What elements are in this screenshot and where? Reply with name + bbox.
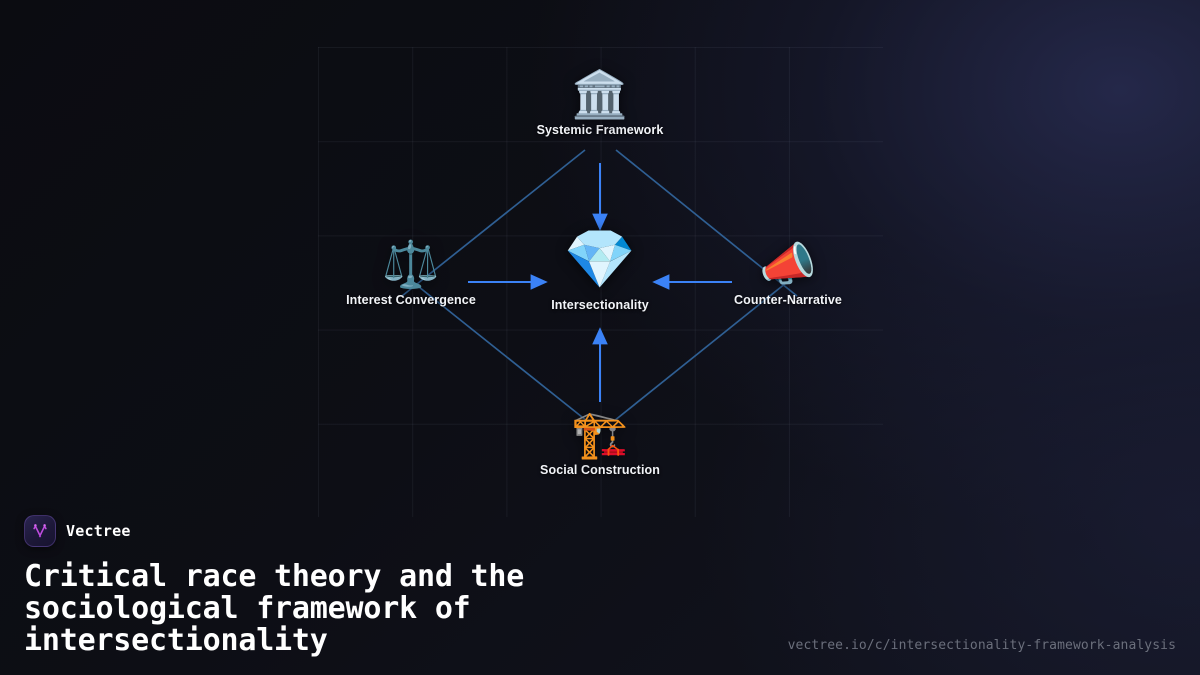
- node-systemic-framework[interactable]: 🏛️ Systemic Framework: [510, 68, 690, 137]
- balance-scale-icon: ⚖️: [382, 238, 439, 290]
- vectree-logo-icon: [24, 515, 56, 547]
- source-url: vectree.io/c/intersectionality-framework…: [788, 638, 1176, 653]
- node-label-intersectionality: Intersectionality: [551, 298, 649, 312]
- node-social-construction[interactable]: 🏗️ Social Construction: [510, 408, 690, 477]
- slide-canvas: 🏛️ Systemic Framework ⚖️ Interest Conver…: [0, 0, 1200, 675]
- node-label-systemic-framework: Systemic Framework: [537, 123, 664, 137]
- page-title: Critical race theory and the sociologica…: [24, 561, 724, 657]
- classical-building-icon: 🏛️: [571, 68, 628, 120]
- node-label-interest-convergence: Interest Convergence: [346, 293, 476, 307]
- gem-stone-icon: 💎: [564, 228, 636, 292]
- node-label-social-construction: Social Construction: [540, 463, 660, 477]
- node-intersectionality[interactable]: 💎 Intersectionality: [510, 228, 690, 312]
- megaphone-icon: 📣: [759, 238, 816, 290]
- concept-diagram: 🏛️ Systemic Framework ⚖️ Interest Conver…: [0, 0, 1200, 520]
- node-counter-narrative[interactable]: 📣 Counter-Narrative: [698, 238, 878, 307]
- vectree-mark-icon: [30, 521, 50, 541]
- node-interest-convergence[interactable]: ⚖️ Interest Convergence: [321, 238, 501, 307]
- brand-name: Vectree: [66, 522, 131, 540]
- brand-block[interactable]: Vectree: [24, 515, 1176, 547]
- construction-crane-icon: 🏗️: [571, 408, 628, 460]
- node-label-counter-narrative: Counter-Narrative: [734, 293, 842, 307]
